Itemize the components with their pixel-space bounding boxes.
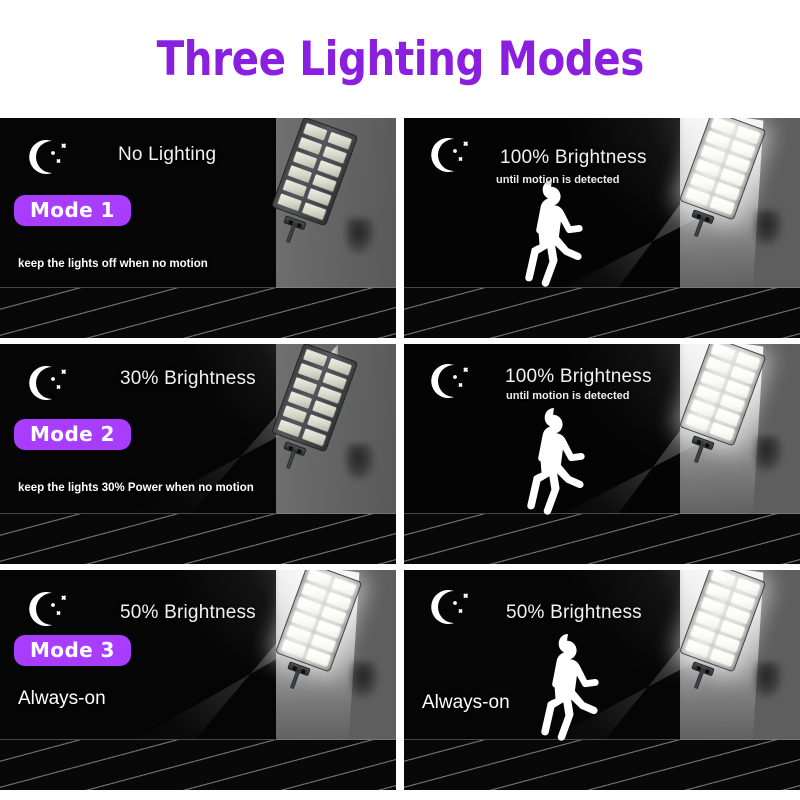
panel-caption: keep the lights off when no motion: [18, 258, 208, 270]
floor: [0, 514, 396, 564]
panel-headline: No Lighting: [118, 144, 216, 166]
walking-person-icon: [538, 632, 608, 752]
mode-badge[interactable]: Mode 3: [14, 635, 131, 666]
panel-subhead: until motion is detected: [496, 174, 619, 186]
walking-person-icon: [524, 406, 594, 526]
panel-mode-2-motion[interactable]: 100% Brightness until motion is detected: [404, 344, 800, 564]
moon-stars-icon: [426, 360, 476, 402]
lamp-shadow: [350, 662, 378, 698]
moon-stars-icon: [426, 134, 476, 176]
floor: [0, 740, 396, 790]
panel-mode-2-no-motion[interactable]: 30% Brightness Mode 2 keep the lights 30…: [0, 344, 396, 564]
moon-stars-icon: [426, 586, 476, 628]
panel-headline: 50% Brightness: [120, 602, 256, 624]
moon-stars-icon: [24, 588, 74, 630]
panel-mode-1-motion[interactable]: 100% Brightness until motion is detected: [404, 118, 800, 338]
panel-mode-3-always-on[interactable]: 50% Brightness Mode 3 Always-on: [0, 570, 396, 790]
mode-badge[interactable]: Mode 1: [14, 195, 131, 226]
panel-headline: 100% Brightness: [500, 147, 647, 169]
lamp-shadow: [346, 444, 374, 480]
lamp-shadow: [754, 210, 782, 246]
panel-subhead: until motion is detected: [506, 390, 629, 402]
lamp-shadow: [346, 218, 374, 254]
lamp-shadow: [754, 436, 782, 472]
panel-row-3: 50% Brightness Mode 3 Always-on: [0, 570, 800, 790]
panel-headline: 100% Brightness: [505, 366, 652, 388]
floor: [404, 288, 800, 338]
page-title: Three Lighting Modes: [156, 32, 643, 87]
panel-caption: keep the lights 30% Power when no motion: [18, 482, 254, 494]
panel-row-2: 30% Brightness Mode 2 keep the lights 30…: [0, 344, 800, 564]
panel-headline: 30% Brightness: [120, 368, 256, 390]
moon-stars-icon: [24, 136, 74, 178]
panel-mode-1-no-motion[interactable]: No Lighting Mode 1 keep the lights off w…: [0, 118, 396, 338]
page-title-bar: Three Lighting Modes: [0, 0, 800, 118]
panel-row-1: No Lighting Mode 1 keep the lights off w…: [0, 118, 800, 338]
mode-badge[interactable]: Mode 2: [14, 419, 131, 450]
floor: [404, 514, 800, 564]
lamp-shadow: [754, 662, 782, 698]
panel-mode-3-motion[interactable]: 50% Brightness Always-on: [404, 570, 800, 790]
lighting-modes-infographic: Three Lighting Modes: [0, 0, 800, 800]
panel-caption: Always-on: [18, 688, 106, 710]
floor: [0, 288, 396, 338]
panel-headline: 50% Brightness: [506, 602, 642, 624]
panel-grid: No Lighting Mode 1 keep the lights off w…: [0, 118, 800, 800]
moon-stars-icon: [24, 362, 74, 404]
panel-caption: Always-on: [422, 692, 510, 714]
walking-person-icon: [522, 178, 592, 298]
